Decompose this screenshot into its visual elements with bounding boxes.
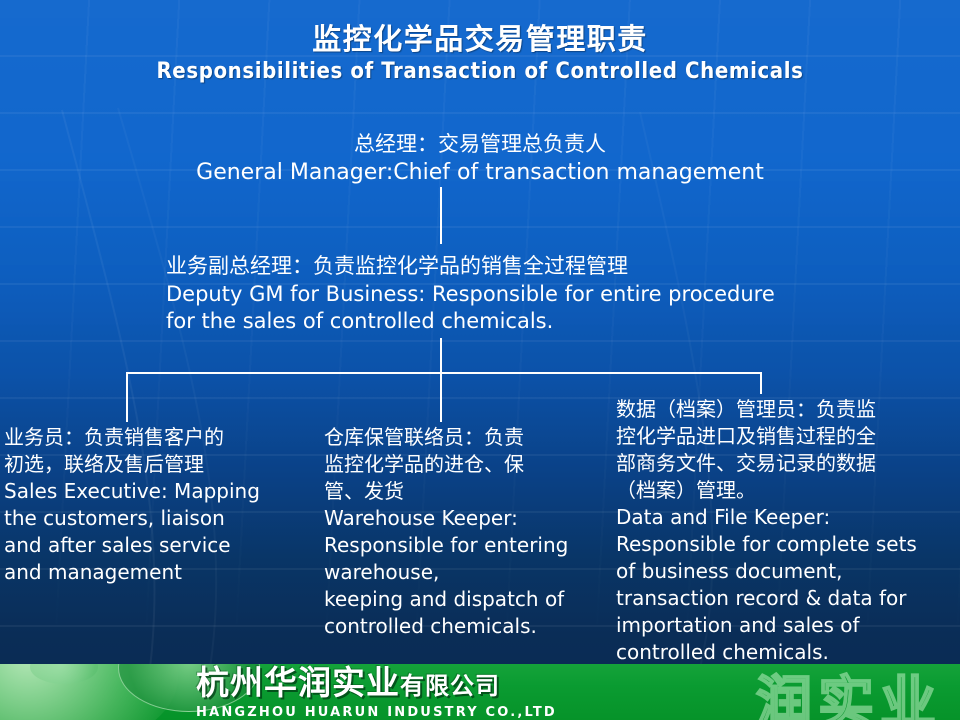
company-logo-text: 杭州华润实业有限公司 HANGZHOU HUARUN INDUSTRY CO.,… bbox=[196, 665, 557, 720]
data-label-english-line2: Responsible for complete sets bbox=[616, 531, 952, 558]
presentation-slide: 监控化学品交易管理职责 Responsibilities of Transact… bbox=[0, 0, 960, 720]
connector-to-warehouse-keeper bbox=[440, 372, 442, 422]
gm-label-chinese: 总经理：交易管理总负责人 bbox=[0, 130, 960, 159]
warehouse-label-chinese-line2: 监控化学品的进仓、保 bbox=[324, 451, 604, 478]
org-node-sales-executive: 业务员：负责销售客户的 初选，联络及售后管理 Sales Executive: … bbox=[4, 424, 300, 586]
company-watermark-text: 润实业 bbox=[756, 664, 942, 720]
org-node-warehouse-keeper: 仓库保管联络员：负责 监控化学品的进仓、保 管、发货 Warehouse Kee… bbox=[324, 424, 604, 640]
connector-horizontal-bus bbox=[126, 372, 762, 374]
data-label-english-line6: controlled chemicals. bbox=[616, 639, 952, 666]
data-label-chinese-line1: 数据（档案）管理员：负责监 bbox=[616, 396, 952, 423]
company-name-english: HANGZHOU HUARUN INDUSTRY CO.,LTD bbox=[196, 705, 557, 720]
connector-to-sales-executive bbox=[126, 372, 128, 422]
connector-deputy-stem bbox=[440, 338, 442, 374]
warehouse-label-english-line4: keeping and dispatch of bbox=[324, 586, 604, 613]
page-title-chinese: 监控化学品交易管理职责 bbox=[0, 22, 960, 56]
sales-label-english-line3: and after sales service bbox=[4, 532, 300, 559]
company-name-chinese-main: 杭州华润实业 bbox=[196, 664, 400, 702]
sales-label-english-line1: Sales Executive: Mapping bbox=[4, 478, 300, 505]
data-label-chinese-line2: 控化学品进口及销售过程的全 bbox=[616, 423, 952, 450]
data-label-chinese-line3: 部商务文件、交易记录的数据 bbox=[616, 450, 952, 477]
deputy-gm-label-english-line1: Deputy GM for Business: Responsible for … bbox=[166, 281, 775, 308]
data-label-english-line5: importation and sales of bbox=[616, 612, 952, 639]
data-label-chinese-line4: （档案）管理。 bbox=[616, 477, 952, 504]
org-node-deputy-gm: 业务副总经理：负责监控化学品的销售全过程管理 Deputy GM for Bus… bbox=[166, 252, 775, 335]
warehouse-label-chinese-line1: 仓库保管联络员：负责 bbox=[324, 424, 604, 451]
company-name-chinese: 杭州华润实业有限公司 bbox=[196, 665, 557, 704]
sales-label-chinese-line2: 初选，联络及售后管理 bbox=[4, 451, 300, 478]
slide-title-block: 监控化学品交易管理职责 Responsibilities of Transact… bbox=[0, 22, 960, 85]
footer-logo-banner: 润实业 杭州华润实业有限公司 HANGZHOU HUARUN INDUSTRY … bbox=[0, 664, 960, 720]
data-label-english-line3: of business document, bbox=[616, 558, 952, 585]
warehouse-label-english-line3: warehouse, bbox=[324, 559, 604, 586]
page-title-english: Responsibilities of Transaction of Contr… bbox=[0, 59, 960, 85]
data-label-english-line1: Data and File Keeper: bbox=[616, 504, 952, 531]
org-node-general-manager: 总经理：交易管理总负责人 General Manager:Chief of tr… bbox=[0, 130, 960, 187]
deputy-gm-label-english-line2: for the sales of controlled chemicals. bbox=[166, 308, 775, 335]
warehouse-label-english-line5: controlled chemicals. bbox=[324, 613, 604, 640]
warehouse-label-english-line2: Responsible for entering bbox=[324, 532, 604, 559]
sphere-decoration-large bbox=[0, 664, 178, 720]
deputy-gm-label-chinese: 业务副总经理：负责监控化学品的销售全过程管理 bbox=[166, 252, 775, 281]
sphere-decoration-small bbox=[30, 664, 98, 684]
warehouse-label-chinese-line3: 管、发货 bbox=[324, 478, 604, 505]
warehouse-label-english-line1: Warehouse Keeper: bbox=[324, 505, 604, 532]
org-node-data-file-keeper: 数据（档案）管理员：负责监 控化学品进口及销售过程的全 部商务文件、交易记录的数… bbox=[616, 396, 952, 666]
data-label-english-line4: transaction record & data for bbox=[616, 585, 952, 612]
connector-gm-to-deputy bbox=[440, 187, 442, 244]
gm-label-english: General Manager:Chief of transaction man… bbox=[0, 159, 960, 187]
sales-label-english-line4: and management bbox=[4, 559, 300, 586]
sales-label-chinese-line1: 业务员：负责销售客户的 bbox=[4, 424, 300, 451]
sales-label-english-line2: the customers, liaison bbox=[4, 505, 300, 532]
company-name-chinese-suffix: 有限公司 bbox=[400, 672, 500, 700]
connector-to-data-file-keeper bbox=[760, 372, 762, 394]
